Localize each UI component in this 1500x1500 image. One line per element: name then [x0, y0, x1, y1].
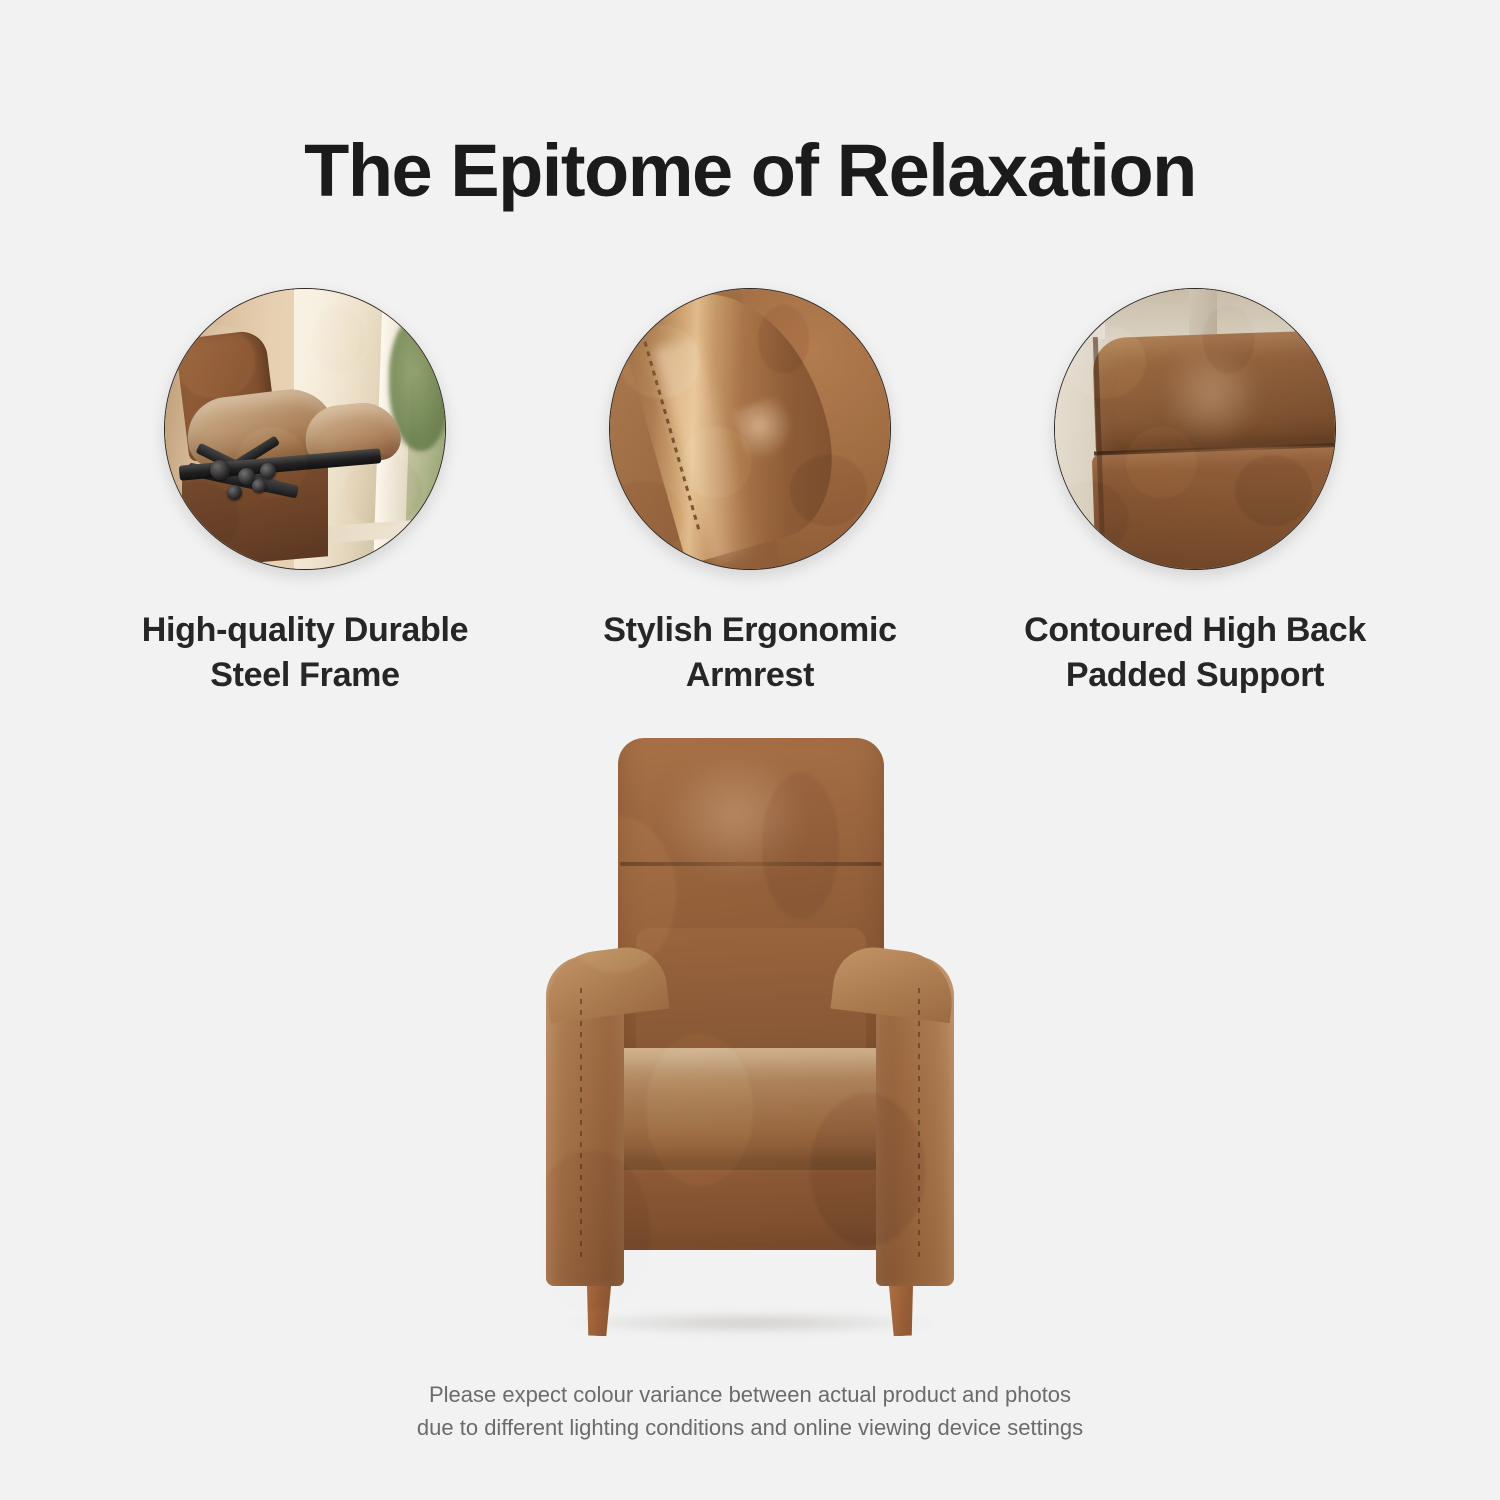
feature-image-wrapper [164, 288, 446, 570]
feature-label-line-1: Stylish Ergonomic [603, 608, 896, 653]
disclaimer-line-1: Please expect colour variance between ac… [0, 1378, 1500, 1411]
floor-shadow [564, 1312, 936, 1334]
backrest-cushion [1092, 444, 1336, 570]
armrest-stitch-right [918, 988, 920, 1258]
armrest-stitch-left [580, 988, 582, 1258]
feature-label-steel-frame: High-quality Durable Steel Frame [142, 608, 468, 698]
feature-image-wrapper [1054, 288, 1336, 570]
feature-label-line-1: Contoured High Back [1024, 608, 1366, 653]
disclaimer-line-2: due to different lighting conditions and… [0, 1411, 1500, 1444]
steel-pivot-bolt [260, 463, 276, 479]
feature-label-high-back-support: Contoured High Back Padded Support [1024, 608, 1366, 698]
feature-image-wrapper [609, 288, 891, 570]
feature-image-high-back-support [1054, 288, 1336, 570]
feature-label-ergonomic-armrest: Stylish Ergonomic Armrest [603, 608, 896, 698]
feature-image-steel-frame [164, 288, 446, 570]
feature-label-line-2: Padded Support [1024, 653, 1366, 698]
disclaimer: Please expect colour variance between ac… [0, 1378, 1500, 1444]
feature-label-line-2: Armrest [603, 653, 896, 698]
page-title: The Epitome of Relaxation [0, 132, 1500, 210]
feature-item-high-back-support: Contoured High Back Padded Support [985, 288, 1405, 698]
product-image-recliner-chair [540, 738, 960, 1338]
feature-label-line-1: High-quality Durable [142, 608, 468, 653]
feature-row: High-quality Durable Steel Frame Stylish… [95, 288, 1405, 698]
steel-pivot-bolt [227, 485, 242, 500]
feature-image-ergonomic-armrest [609, 288, 891, 570]
feature-label-line-2: Steel Frame [142, 653, 468, 698]
feature-item-steel-frame: High-quality Durable Steel Frame [95, 288, 515, 698]
chair-base-frame [590, 1158, 910, 1250]
headrest-seam [620, 862, 882, 866]
feature-item-ergonomic-armrest: Stylish Ergonomic Armrest [540, 288, 960, 698]
steel-pivot-bolt [210, 460, 230, 480]
seat-cushion [592, 1048, 908, 1170]
headrest-highlight [1161, 351, 1262, 446]
